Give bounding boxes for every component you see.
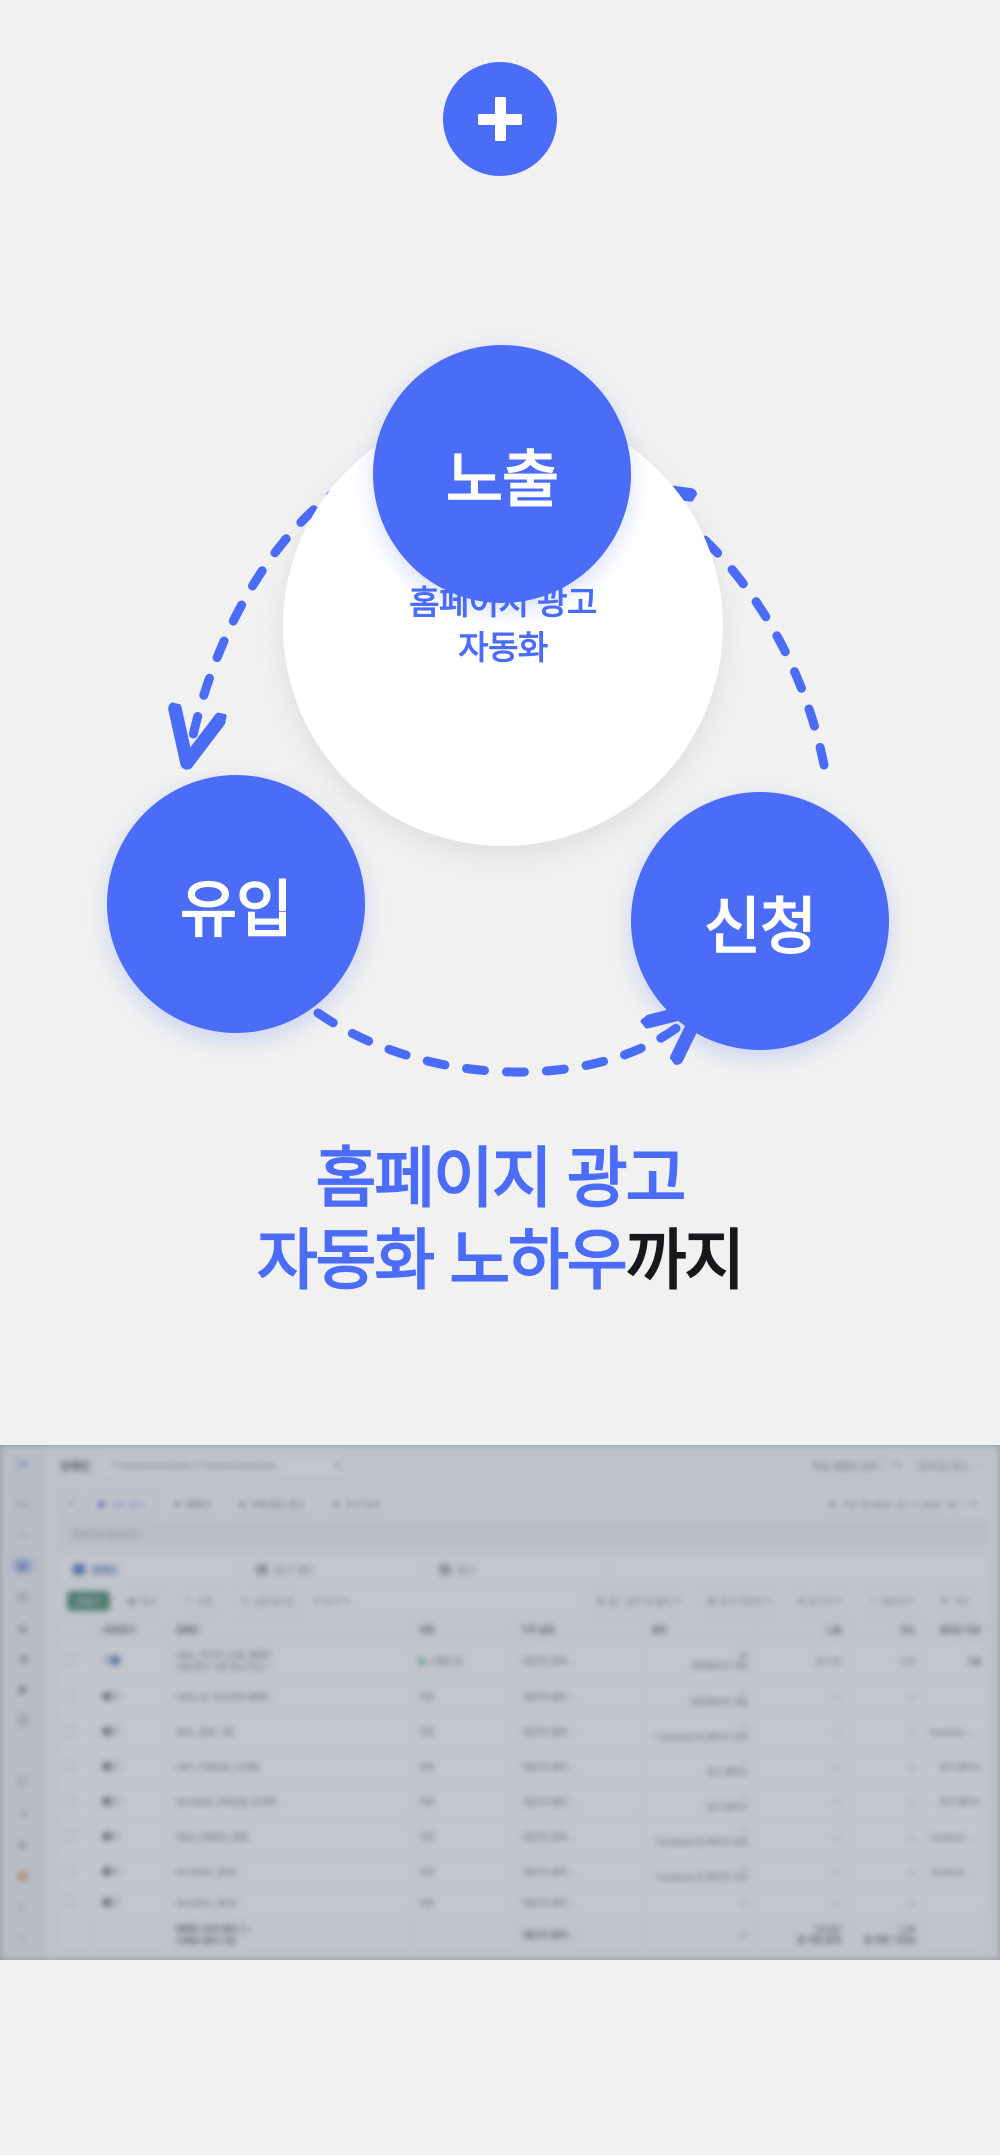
help-icon[interactable]: ● [10, 1836, 36, 1852]
tab-adsets[interactable]: 광고 세트 [240, 1554, 423, 1584]
cycle-node-application[interactable]: 신청 [631, 792, 889, 1050]
total-delivery [411, 1917, 513, 1954]
campaigns-icon[interactable]: ▦ [10, 1557, 36, 1573]
row-bid: 7월간의 클릭… [513, 1680, 643, 1715]
row-freq: — [849, 1820, 924, 1855]
row-freq: — [849, 1680, 924, 1715]
row-delivery: 저장 [411, 1785, 513, 1820]
cycle-node-application-label: 신청 [704, 876, 816, 966]
chip-no-recent-ads-label: 아예 없던 광고 [251, 1498, 306, 1511]
row-name[interactable]: 0921_홍보 그룹 [169, 1715, 411, 1750]
account-selector[interactable]: 774991013102236 (774991013102236... ▾ [100, 1454, 350, 1479]
row-name[interactable]: 0901_전사적_인쇄_캠페인 적용 중기 사용 폭사 비교 ⋯ [169, 1643, 411, 1680]
row-result: — [644, 1890, 756, 1917]
row-spend: facebook 조회 조회 [923, 1715, 988, 1750]
campaign-table-body: 0901_전사적_인쇄_캠페인 적용 중기 사용 폭사 비교 ⋯ ● 활동 중 … [57, 1643, 989, 1954]
report-icon: ■ [799, 1596, 804, 1606]
panel-tabs: 캠페인 광고 세트 광고 [57, 1554, 989, 1585]
table-row[interactable]: WC)0816_홍보2 저장 7월간의 클릭… — Facebook 및 페이지… [57, 1855, 989, 1890]
th-delivery[interactable]: 게재 [411, 1618, 513, 1643]
row-checkbox[interactable] [57, 1890, 94, 1917]
row-toggle[interactable] [94, 1750, 169, 1785]
row-reach: — [756, 1750, 849, 1785]
row-checkbox[interactable] [57, 1820, 94, 1855]
row-toggle[interactable] [94, 1715, 169, 1750]
row-bid: 7월간의 클릭… [513, 1855, 643, 1890]
row-delivery: 저장 [411, 1750, 513, 1785]
more-menu-label: 더 보기 [313, 1595, 340, 1608]
row-name[interactable]: 0926_W_복싱의류 캠페인 [169, 1680, 411, 1715]
total-spend [923, 1917, 988, 1954]
th-toggle[interactable]: 게재/중지 [94, 1618, 169, 1643]
wand-icon [174, 1501, 181, 1508]
row-checkbox[interactable] [57, 1680, 94, 1715]
row-delivery: 저장 [411, 1855, 513, 1890]
chart-icon: ▧ [707, 1596, 716, 1607]
row-reach: — [756, 1820, 849, 1855]
grid-icon [98, 1501, 105, 1508]
export-icon: ↗ [869, 1596, 877, 1607]
row-toggle[interactable] [94, 1643, 169, 1680]
export-button-label: 내보내기 [880, 1595, 913, 1608]
th-check[interactable] [57, 1618, 94, 1643]
copy-icon: ▣ [128, 1596, 137, 1607]
chip-add-more[interactable]: 추가 보기 [323, 1492, 391, 1516]
row-freq: — [849, 1715, 924, 1750]
chip-all-ads-label: 모든 광고 [110, 1498, 146, 1511]
total-freq: 1.46 총 계정 기준값 [849, 1917, 924, 1954]
th-spend[interactable]: 결과당 비용 [923, 1618, 988, 1643]
total-blank-2 [94, 1917, 169, 1954]
reports-icon[interactable]: ☰ [10, 1712, 36, 1728]
admin-icon[interactable]: ◑ [10, 1805, 36, 1821]
row-toggle[interactable] [94, 1890, 169, 1917]
insights-icon[interactable]: ○ [10, 1526, 36, 1542]
row-reach: — [756, 1855, 849, 1890]
row-spend: ₩▮ [923, 1643, 988, 1680]
table-total-row: 캠페인 48개 결과 ⓘ 선택된 항목 기준 7월간의 클릭… — 29,322… [57, 1917, 989, 1954]
row-spend: facebook 조회 조회 [923, 1855, 988, 1890]
row-reach: — [756, 1890, 849, 1917]
tab-campaigns-label: 캠페인 [91, 1562, 119, 1577]
th-reach[interactable]: 노출 [756, 1618, 849, 1643]
chip-no-recent-ads[interactable]: 아예 없던 광고 [229, 1492, 316, 1516]
search-input[interactable]: 검색으로 찾아보기 [60, 1521, 986, 1547]
row-reach: 16,724 [756, 1643, 849, 1680]
columns-button[interactable]: ▤ 열 : 실적 및 클릭 ▾ [587, 1590, 690, 1612]
th-bid[interactable]: 기여 설정 [513, 1618, 643, 1643]
date-range-label: 기간 및 2024. 10. 1~2024. 10. 7 [841, 1498, 966, 1511]
row-toggle[interactable] [94, 1680, 169, 1715]
total-bid: 7월간의 클릭… [513, 1917, 643, 1954]
headline-line-2-blue: 자동화 노하우 [257, 1223, 626, 1297]
ab-test-button-label: A/B 테스트 [253, 1595, 295, 1608]
chip-all-ads[interactable]: 모든 광고 [88, 1492, 156, 1516]
row-freq: — [849, 1785, 924, 1820]
panel-toolbar: 만들기 ▣ 복사 ✎ 수정 ⚖ A/B 테스트 [57, 1585, 989, 1618]
campaign-table-head: 게재/중지 캠페인 게재 기여 설정 결과 노출 빈도 결과당 비용 [57, 1618, 989, 1643]
gear-icon: ⚙ [940, 1596, 948, 1607]
row-toggle[interactable] [94, 1785, 169, 1820]
row-result: — 링크 클릭수 [644, 1750, 756, 1785]
table-row[interactable]: 0827_무료상담_트래픽 저장 7월간의 클릭… — 링크 클릭수 — — 링… [57, 1750, 989, 1785]
columns-icon: ▤ [597, 1596, 606, 1607]
tab-ads[interactable]: 광고 [423, 1554, 606, 1584]
settings-button-label: 기타 [952, 1595, 969, 1608]
th-name[interactable]: 캠페인 [169, 1618, 411, 1643]
account-label: 정혜민 [60, 1458, 90, 1474]
row-freq: — [849, 1890, 924, 1917]
export-button[interactable]: ↗ 내보내기 [859, 1590, 924, 1612]
columns-chevron-down-icon: ▾ [675, 1596, 680, 1607]
row-name-sub: 적용 중기 사용 폭사 비교 ⋯ [176, 1661, 403, 1673]
profile-icon[interactable]: ○ [10, 1929, 36, 1945]
pencil-icon: ✎ [185, 1596, 193, 1607]
row-spend: 링크 클릭수 [923, 1785, 988, 1820]
tab-ads-label: 광고 [457, 1562, 475, 1577]
plus-small-icon [333, 1501, 340, 1508]
row-toggle[interactable] [94, 1855, 169, 1890]
total-reach: 29,322 총 계정 합계 [756, 1917, 849, 1954]
row-reach: — [756, 1680, 849, 1715]
image-icon [439, 1564, 451, 1575]
audience-icon[interactable]: ▲ [10, 1619, 36, 1635]
row-freq: — [849, 1750, 924, 1785]
cycle-node-exposure-label: 노출 [446, 429, 558, 519]
search-placeholder: 검색으로 찾아보기 [72, 1528, 141, 1541]
app-screenshot: ∞ ▭ ○ ▦ ◎ ▲ ◄ ■ ☰ ▽ ◑ ● ◉ ⌕ ○ 정혜민 [0, 1445, 1000, 1960]
row-result: — Facebook 및 페이지 조회 [644, 1855, 756, 1890]
row-bid: 7월간의 클릭… [513, 1890, 643, 1917]
row-delivery: 저장 [411, 1890, 513, 1917]
reports-button[interactable]: ■ 보고서 ▾ [789, 1590, 852, 1612]
table-row[interactable]: WC)0826_무료상담_트래픽 저장 7월간의 클릭… — 링크 클릭수 — … [57, 1785, 989, 1820]
row-name[interactable]: WC)0826_무료상담_트래픽 [169, 1785, 411, 1820]
row-result: — 랜딩페이지 이탈 [644, 1680, 756, 1715]
row-reach: — [756, 1715, 849, 1750]
edit-button-label: 수정 [196, 1595, 213, 1608]
row-name[interactable]: WC)0816_홍보2 [169, 1855, 411, 1890]
reports-chevron-down-icon: ▾ [837, 1596, 842, 1607]
filter-icon[interactable]: ∇ [60, 1492, 80, 1516]
more-icon[interactable]: ⋯ [977, 1461, 987, 1472]
row-reach: — [756, 1785, 849, 1820]
row-checkbox[interactable] [57, 1715, 94, 1750]
total-label-cell: 캠페인 48개 결과 ⓘ 선택된 항목 기준 [169, 1917, 411, 1954]
overview-icon[interactable]: ▭ [10, 1495, 36, 1511]
th-result[interactable]: 결과 [644, 1618, 756, 1643]
row-spend: facebook 조회 조회 [923, 1820, 988, 1855]
more-chevron-down-icon: ▾ [344, 1596, 349, 1607]
breakdown-button-label: 분석 데이터 [719, 1595, 763, 1608]
row-delivery: 저장 [411, 1715, 513, 1750]
table-row[interactable]: 0926_W_복싱의류 캠페인 저장 7월간의 클릭… — 랜딩페이지 이탈 —… [57, 1680, 989, 1715]
tab-adsets-label: 광고 세트 [274, 1562, 314, 1577]
total-label: 캠페인 48개 결과 ⓘ [176, 1923, 403, 1935]
columns-button-label: 열 : 실적 및 클릭 [609, 1595, 671, 1608]
create-button-label: 만들기 [76, 1595, 101, 1608]
app-screenshot-inner: ∞ ▭ ○ ▦ ◎ ▲ ◄ ■ ☰ ▽ ◑ ● ◉ ⌕ ○ 정혜민 [0, 1445, 1000, 1960]
plus-badge-button[interactable] [443, 62, 557, 176]
row-checkbox[interactable] [57, 1785, 94, 1820]
plus-icon [476, 95, 524, 143]
table-row[interactable]: 0901_전사적_인쇄_캠페인 적용 중기 사용 폭사 비교 ⋯ ● 활동 중 … [57, 1643, 989, 1680]
headline-line-2: 자동화 노하우까지 [0, 1220, 1000, 1302]
filterbar-right: 기간 및 2024. 10. 1~2024. 10. 7 ▾ [819, 1492, 986, 1516]
headline: 홈페이지 광고 자동화 노하우까지 [0, 1138, 1000, 1302]
row-checkbox[interactable] [57, 1750, 94, 1785]
row-result: — Facebook 및 페이지 조회 [644, 1715, 756, 1750]
ads-megaphone-icon[interactable]: ◄ [10, 1650, 36, 1666]
copy-button-label: 복사 [140, 1595, 157, 1608]
layers-icon [256, 1564, 268, 1575]
total-sublabel: 선택된 항목 기준 [176, 1935, 403, 1947]
row-name[interactable]: 0827_무료상담_트래픽 [169, 1750, 411, 1785]
billing-icon[interactable]: ■ [10, 1681, 36, 1697]
refresh-icon[interactable]: ⟳ [888, 1455, 910, 1477]
chevron-down-icon: ▾ [336, 1461, 341, 1472]
table-row[interactable]: 0826_DB확보_캠페 저장 7월간의 클릭… — Facebook 및 페이… [57, 1820, 989, 1855]
headline-line-1: 홈페이지 광고 [0, 1138, 1000, 1220]
chip-add-more-label: 추가 보기 [345, 1498, 381, 1511]
row-result: — Facebook 및 페이지 조회 [644, 1820, 756, 1855]
cycle-node-inflow-label: 유입 [180, 859, 292, 949]
table-header-row: 게재/중지 캠페인 게재 기여 설정 결과 노출 빈도 결과당 비용 [57, 1618, 989, 1643]
row-name-text: 0901_전사적_인쇄_캠페인 [176, 1649, 403, 1661]
row-spend [923, 1890, 988, 1917]
more-menu-button[interactable]: 더 보기 ▾ [313, 1595, 349, 1608]
row-name[interactable]: 0826_DB확보_캠페 [169, 1820, 411, 1855]
row-bid: 7월간의 클릭… [513, 1750, 643, 1785]
goals-icon[interactable]: ◎ [10, 1588, 36, 1604]
campaign-table: 게재/중지 캠페인 게재 기여 설정 결과 노출 빈도 결과당 비용 [57, 1618, 989, 1954]
row-spend: 링크 클릭수 [923, 1750, 988, 1785]
app-filterbar: ∇ 모든 광고 캠페인 아예 없던 광고 추가 [46, 1487, 1000, 1521]
topbar-right: 목표 캠페인 실적 ⟳ 검색 및 지난 ⋯ [812, 1455, 986, 1477]
total-blank [57, 1917, 94, 1954]
arrow-left-to-right [318, 1013, 683, 1072]
cycle-node-exposure[interactable]: 노출 [373, 345, 631, 603]
calendar-icon [829, 1501, 836, 1508]
brand-logo-icon[interactable]: ∞ [10, 1457, 36, 1473]
row-toggle[interactable] [94, 1820, 169, 1855]
breakdown-button[interactable]: ▧ 분석 데이터 ▾ [697, 1590, 782, 1612]
app-sidebar: ∞ ▭ ○ ▦ ◎ ▲ ◄ ■ ☰ ▽ ◑ ● ◉ ⌕ ○ [0, 1445, 46, 1960]
row-delivery: ● 활동 중 [411, 1643, 513, 1680]
row-name[interactable]: WC)0801_홍보3 [169, 1890, 411, 1917]
folder-icon [73, 1564, 85, 1575]
row-freq: 1.45 [849, 1643, 924, 1680]
row-delivery: 저장 [411, 1820, 513, 1855]
row-bid: 7월간의 클릭… [513, 1820, 643, 1855]
row-checkbox[interactable] [57, 1643, 94, 1680]
row-checkbox[interactable] [57, 1855, 94, 1890]
notifications-icon[interactable]: ◉ [10, 1867, 36, 1883]
reports-button-label: 보고서 [808, 1595, 833, 1608]
row-bid: 7월간의 클릭… [513, 1643, 643, 1680]
account-selector-value: 774991013102236 (774991013102236... [110, 1461, 282, 1472]
date-chevron-down-icon: ▾ [971, 1499, 976, 1510]
row-spend [923, 1680, 988, 1715]
headline-line-2-dark: 까지 [626, 1223, 743, 1297]
edit-button[interactable]: ✎ 수정 [175, 1590, 223, 1612]
row-freq: — [849, 1855, 924, 1890]
tools-bulb-icon[interactable]: ▽ [10, 1774, 36, 1790]
row-bid: 7월간의 클릭… [513, 1785, 643, 1820]
flask-icon: ⚖ [241, 1596, 249, 1607]
topbar-text-goal: 목표 캠페인 실적 [812, 1459, 878, 1473]
breakdown-chevron-down-icon: ▾ [767, 1596, 772, 1607]
table-row[interactable]: 0921_홍보 그룹 저장 7월간의 클릭… — Facebook 및 페이지 … [57, 1715, 989, 1750]
th-freq[interactable]: 빈도 [849, 1618, 924, 1643]
chip-campaign[interactable]: 캠페인 [164, 1492, 221, 1516]
topbar-text-search: 검색 및 지난 [919, 1459, 968, 1473]
tab-campaigns[interactable]: 캠페인 [57, 1554, 240, 1584]
campaign-panel: 캠페인 광고 세트 광고 만들기 [56, 1553, 990, 1955]
total-result: — [644, 1917, 756, 1954]
cycle-node-inflow[interactable]: 유입 [107, 775, 365, 1033]
row-result: — 링크 클릭수 [644, 1785, 756, 1820]
promo-page: 홈페이지 광고 자동화 노출 유입 신청 홈페이지 광고 자동화 노하우까지 ∞… [0, 0, 1000, 2155]
cycle-diagram: 홈페이지 광고 자동화 노출 유입 신청 [0, 300, 1000, 1100]
create-button[interactable]: 만들기 [67, 1591, 110, 1611]
toolbar-right: ▤ 열 : 실적 및 클릭 ▾ ▧ 분석 데이터 ▾ ■ [587, 1590, 979, 1612]
row-bid: 7월간의 클릭… [513, 1715, 643, 1750]
table-row[interactable]: WC)0801_홍보3 저장 7월간의 클릭… — — — [57, 1890, 989, 1917]
row-delivery: 저장 [411, 1680, 513, 1715]
copy-button[interactable]: ▣ 복사 [118, 1590, 167, 1612]
center-line-2: 자동화 [458, 626, 548, 671]
date-range-picker[interactable]: 기간 및 2024. 10. 1~2024. 10. 7 ▾ [819, 1492, 986, 1516]
app-main: 정혜민 774991013102236 (774991013102236... … [46, 1445, 1000, 1960]
search-icon[interactable]: ⌕ [10, 1898, 36, 1914]
chip-campaign-label: 캠페인 [186, 1498, 211, 1511]
ab-test-button[interactable]: ⚖ A/B 테스트 [231, 1590, 305, 1612]
settings-button[interactable]: ⚙ 기타 [930, 1590, 979, 1612]
wand-icon-2 [239, 1501, 246, 1508]
row-result: 29 랜딩페이지 이탈 [644, 1643, 756, 1680]
app-topbar: 정혜민 774991013102236 (774991013102236... … [46, 1445, 1000, 1487]
